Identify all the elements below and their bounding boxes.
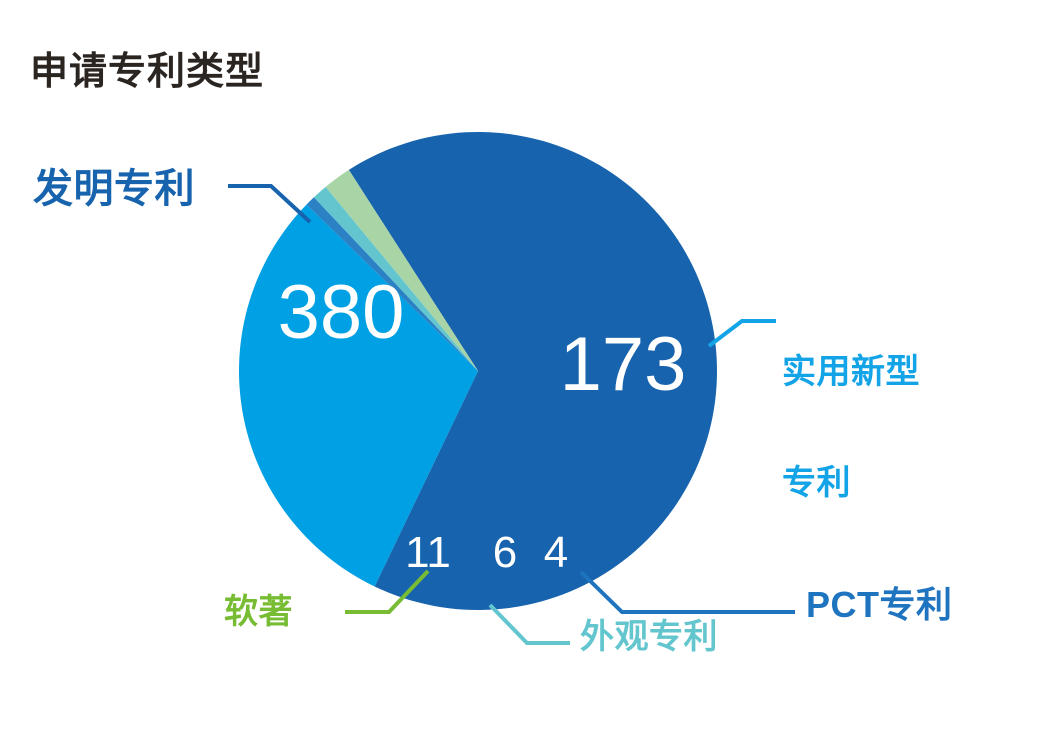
leader-line-design: [490, 605, 570, 643]
category-label-utility-line1: 实用新型: [782, 354, 920, 391]
category-label-pct: PCT专利: [806, 586, 953, 625]
leader-line-utility: [709, 321, 776, 346]
category-label-software: 软著: [224, 594, 293, 631]
pie-chart-figure: 申请专利类型 380 173 11 6 4 发明专利 实用新型 专利 软著 外观…: [0, 0, 1044, 745]
category-label-utility: 实用新型 专利: [782, 281, 920, 575]
category-label-invention: 发明专利: [33, 168, 195, 211]
category-label-design: 外观专利: [580, 619, 718, 656]
leader-line-pct: [581, 572, 795, 612]
pie-slices-group: [239, 132, 717, 610]
category-label-utility-line2: 专利: [782, 465, 920, 502]
